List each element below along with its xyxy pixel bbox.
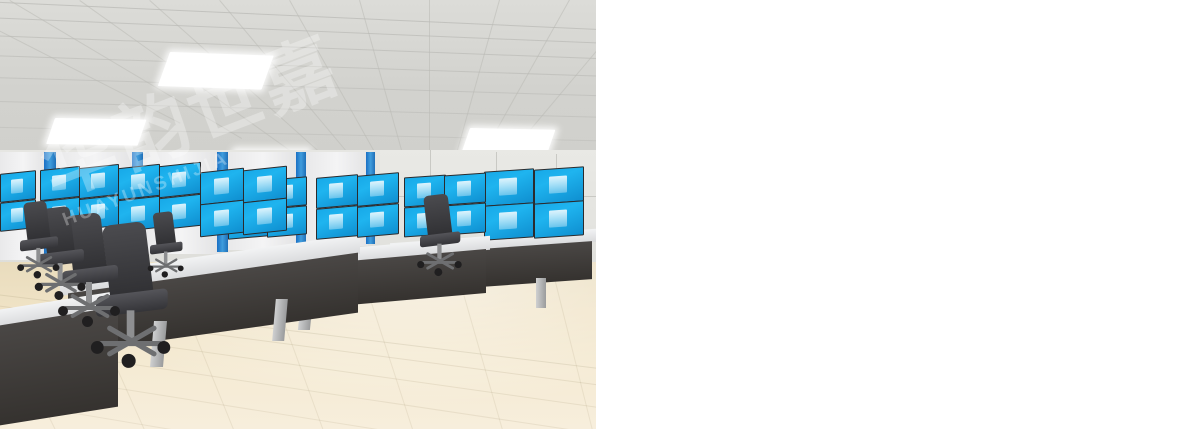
info-panel: 环保优质材质 色泽持久控制高温超耐刮磨防水防潮绿色环保容易清洁安全防火加工简便 … — [596, 0, 1200, 429]
monitor — [316, 205, 358, 240]
desk-body — [0, 307, 118, 426]
chair-wheel — [178, 265, 184, 271]
desk-leg-b — [272, 299, 288, 341]
monitor — [200, 200, 244, 238]
console-pedestal-left — [0, 300, 120, 429]
monitor-screen — [160, 163, 200, 197]
chair-wheel — [58, 306, 68, 316]
desk-leg — [536, 278, 546, 308]
monitor-screen — [119, 165, 159, 199]
chair-wheel — [148, 265, 154, 271]
ceiling-light-panel — [158, 52, 274, 90]
monitor-screen — [1, 171, 35, 202]
monitor — [357, 203, 399, 238]
monitor-screen — [317, 206, 357, 238]
chair-wheel — [455, 261, 462, 268]
monitor-screen — [358, 204, 398, 236]
ceiling-light-panel — [46, 118, 146, 146]
product-photo: 华韵世嘉 HUAYUNSHIJIA — [0, 0, 596, 429]
chair-wheel — [82, 316, 93, 327]
monitor — [243, 198, 287, 236]
chair-wheel — [157, 341, 170, 354]
monitor — [534, 200, 584, 238]
chair-wheel — [417, 261, 424, 268]
chair-wheel — [54, 291, 63, 300]
chair-wheel — [122, 354, 136, 368]
chair-wheel — [77, 283, 85, 291]
chair-wheel — [34, 271, 41, 278]
monitor-screen — [201, 201, 243, 236]
ceiling-line-h — [0, 16, 596, 46]
monitor-screen — [80, 165, 118, 198]
chair-wheel — [434, 268, 442, 276]
monitor — [484, 202, 534, 240]
monitor-screen — [445, 174, 485, 205]
product-feature-banner: 华韵世嘉 HUAYUNSHIJIA 环保优质材质 色泽持久控制高温超耐刮磨防水防… — [0, 0, 1200, 429]
monitor-screen — [244, 167, 286, 202]
chair-wheel — [110, 306, 120, 316]
chair-wheel — [91, 341, 104, 354]
ceiling-line-h — [0, 54, 596, 79]
monitor — [79, 164, 119, 199]
monitor-screen — [41, 167, 79, 200]
chair-wheel — [35, 283, 43, 291]
monitor-screen — [244, 199, 286, 234]
monitor-screen — [535, 167, 583, 203]
monitor-screen — [485, 169, 533, 205]
chair-wheel — [17, 264, 24, 271]
monitor-screen — [201, 169, 243, 204]
monitor — [316, 174, 358, 209]
chair-wheel — [162, 271, 168, 277]
monitor — [0, 170, 36, 203]
monitor — [534, 166, 584, 204]
monitor-screen — [317, 175, 357, 207]
monitor — [118, 164, 160, 200]
monitor-screen — [535, 201, 583, 237]
monitor — [444, 173, 486, 206]
monitor — [484, 168, 534, 206]
chair-wheel — [53, 264, 60, 271]
monitor-screen — [485, 203, 533, 239]
monitor — [357, 172, 399, 207]
monitor — [159, 162, 201, 198]
monitor-screen — [358, 173, 398, 205]
monitor — [40, 166, 80, 201]
